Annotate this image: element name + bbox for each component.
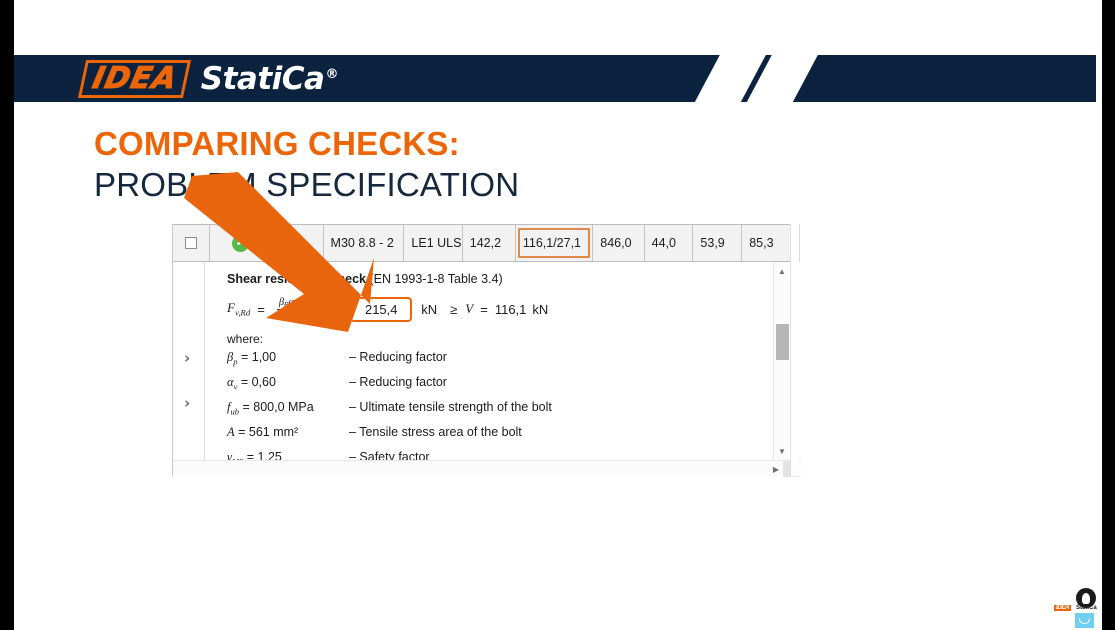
formula-rhs-unit: kN — [532, 302, 548, 317]
watermark-logo-mark: IDEA — [1054, 605, 1071, 611]
application-screenshot-panel: ✓ B40 M30 8.8 - 2 LE1 ULS 142,2 116,1/27… — [172, 224, 800, 476]
status-pass-check-icon: ✓ — [232, 235, 249, 252]
formula-lhs-symbol: Fv,Rd — [227, 300, 250, 318]
variable-row-alpha: αv = 0,60 – Reducing factor — [227, 375, 801, 400]
vertical-scrollbar-thumb[interactable] — [776, 324, 789, 360]
cell-value-1[interactable]: 142,2 — [463, 225, 516, 261]
variable-value-beta: = 1,00 — [241, 350, 276, 364]
formula-result-value-box: 215,4 — [350, 297, 412, 322]
slide-canvas: IDEA StatiCa® COMPARING CHECKS: PROBLEM … — [14, 0, 1102, 630]
corner-watermark: IDEA StatiCa — [1054, 588, 1098, 628]
scroll-right-arrow-icon[interactable]: ▶ — [769, 462, 783, 476]
formula-numerator: βₚαᵥ fᵤᵦ A — [277, 297, 320, 310]
logo-statica-word: StatiCa® — [201, 61, 338, 97]
variable-symbol-alpha: αv = 0,60 — [227, 375, 349, 392]
formula-equals-2: = — [332, 302, 340, 317]
variable-description-beta: – Reducing factor — [349, 350, 447, 364]
variable-value-area: = 561 mm² — [238, 425, 298, 439]
variable-value-fub: = 800,0 MPa — [242, 400, 313, 414]
watermark-tray-icon — [1075, 613, 1094, 628]
variable-symbol-beta: βp = 1,00 — [227, 350, 349, 367]
cell-bolt[interactable]: M30 8.8 - 2 — [324, 225, 405, 261]
watermark-tray-shape — [1079, 618, 1090, 624]
check-detail-body: Shear resistance check (EN 1993-1-8 Tabl… — [205, 262, 801, 476]
formula-rhs-value: 116,1 — [495, 302, 527, 317]
page-title-primary: COMPARING CHECKS: — [94, 125, 460, 163]
panel-right-edge — [790, 224, 799, 476]
detail-gutter-column: › › — [173, 262, 205, 476]
watermark-logo-word: StatiCa — [1076, 605, 1097, 611]
where-label: where: — [227, 332, 801, 346]
variable-value-alpha: = 0,60 — [241, 375, 276, 389]
watermark-bulb-shape — [1082, 593, 1090, 604]
cell-value-2[interactable]: 846,0 — [593, 225, 644, 261]
formula-equals-1: = — [257, 302, 265, 317]
formula-result-value: 215,4 — [365, 302, 398, 317]
page-title-secondary: PROBLEM SPECIFICATION — [94, 166, 519, 204]
logo-idea-mark: IDEA — [78, 60, 191, 98]
cell-value-highlighted[interactable]: 116,1/27,1 — [516, 225, 593, 261]
main-formula-line: Fv,Rd = βₚαᵥ fᵤᵦ A γₘ₂ = 215,4 kN ≥ V — [227, 292, 801, 326]
check-title: Shear resistance check (EN 1993-1-8 Tabl… — [227, 272, 801, 286]
formula-result-unit: kN — [421, 302, 437, 317]
formula-equals-3: = — [480, 302, 488, 317]
vertical-scrollbar[interactable]: ▲ ▼ — [773, 262, 789, 476]
horizontal-scrollbar[interactable]: ▶ — [173, 460, 801, 476]
cell-value-3[interactable]: 44,0 — [645, 225, 694, 261]
expand-chevron-icon-2[interactable]: › — [184, 394, 190, 412]
variable-row-beta: βp = 1,00 – Reducing factor — [227, 350, 801, 375]
formula-fraction: βₚαᵥ fᵤᵦ A γₘ₂ — [277, 297, 320, 320]
expand-chevron-icon-1[interactable]: › — [184, 349, 190, 367]
cell-load-case[interactable]: LE1 ULS — [404, 225, 462, 261]
logo-statica-text: StatiCa — [201, 61, 325, 97]
row-select-checkbox-cell[interactable] — [173, 225, 210, 261]
formula-denominator: γₘ₂ — [292, 310, 304, 320]
variable-symbol-fub: fub = 800,0 MPa — [227, 400, 349, 417]
cell-value-highlighted-text: 116,1/27,1 — [523, 236, 581, 250]
cell-value-5[interactable]: 85,3 — [742, 225, 791, 261]
row-status-cell: ✓ — [210, 225, 273, 261]
variable-description-area: – Tensile stress area of the bolt — [349, 425, 522, 439]
check-detail-pane: › › Shear resistance check (EN 1993-1-8 … — [173, 262, 801, 476]
scroll-down-arrow-icon[interactable]: ▼ — [774, 443, 790, 459]
formula-rhs-symbol: V — [465, 301, 473, 317]
variable-description-fub: – Ultimate tensile strength of the bolt — [349, 400, 552, 414]
results-table-row[interactable]: ✓ B40 M30 8.8 - 2 LE1 ULS 142,2 116,1/27… — [173, 224, 791, 262]
formula-lhs-subscript: v,Rd — [235, 308, 250, 318]
variable-row-area: A = 561 mm² – Tensile stress area of the… — [227, 425, 801, 450]
variable-description-alpha: – Reducing factor — [349, 375, 447, 389]
cell-item[interactable]: B40 — [272, 225, 323, 261]
slide-root: IDEA StatiCa® COMPARING CHECKS: PROBLEM … — [0, 0, 1115, 630]
scroll-up-arrow-icon[interactable]: ▲ — [774, 263, 790, 279]
check-title-reference: (EN 1993-1-8 Table 3.4) — [369, 272, 502, 286]
variable-row-fub: fub = 800,0 MPa – Ultimate tensile stren… — [227, 400, 801, 425]
idea-statica-logo: IDEA StatiCa® — [82, 57, 338, 101]
check-title-name: Shear resistance check — [227, 272, 366, 286]
variable-symbol-area: A = 561 mm² — [227, 425, 349, 442]
cell-value-4[interactable]: 53,9 — [693, 225, 742, 261]
registered-mark: ® — [325, 67, 338, 82]
formula-comparator: ≥ — [450, 302, 457, 317]
header-right-cap — [1096, 55, 1102, 102]
row-select-checkbox[interactable] — [185, 237, 197, 249]
